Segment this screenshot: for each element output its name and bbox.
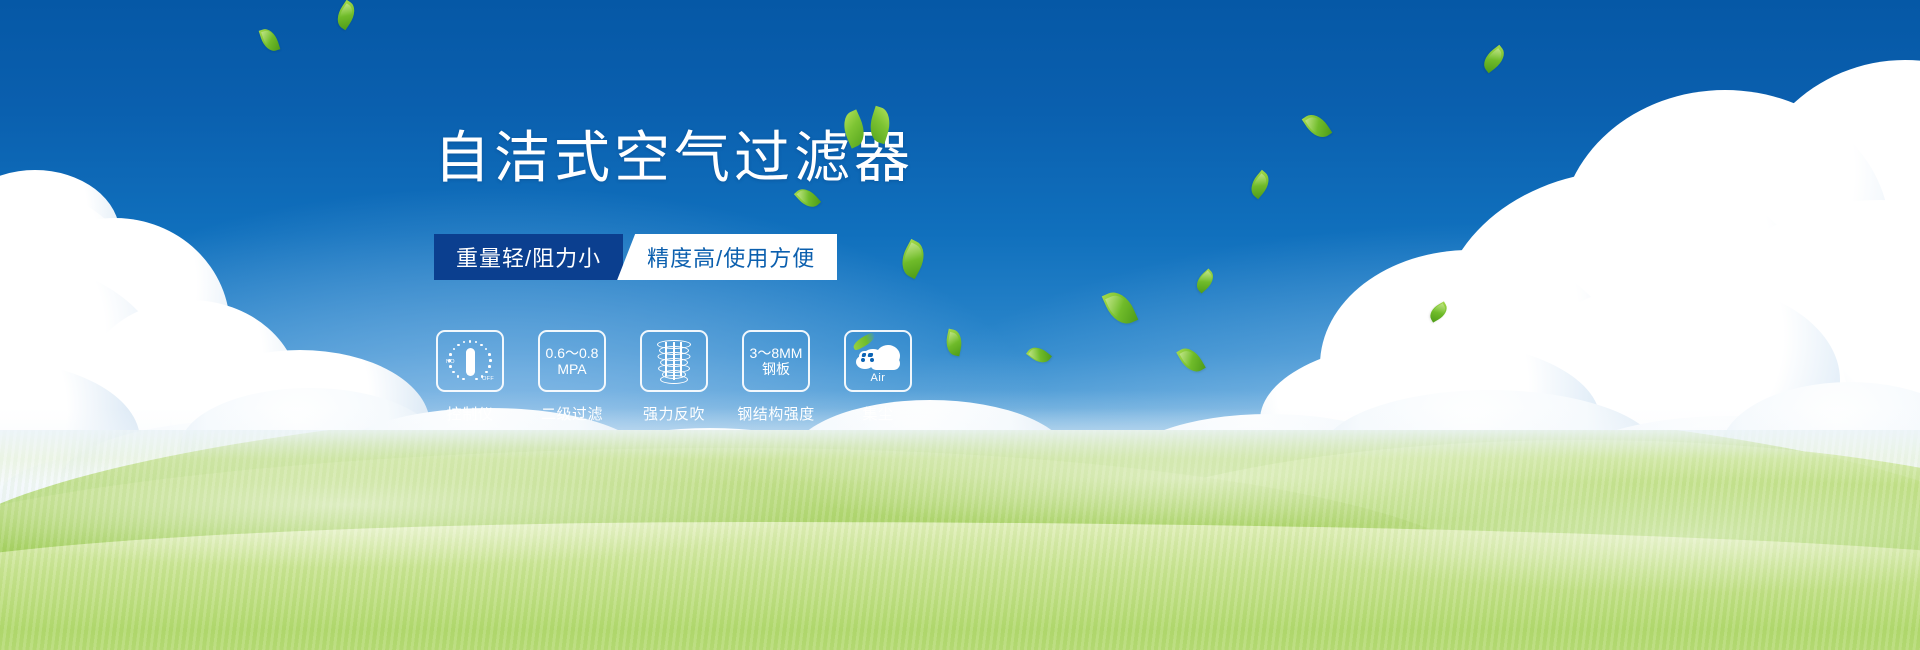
filter-cone-icon [653,339,695,383]
sprout-leaf-icon [838,104,898,148]
feature-value-line2: 钢板 [762,361,790,377]
subtitle-primary: 重量轻/阻力小 [434,234,623,280]
feature-label: 钢结构强度 [737,403,815,424]
feature-label: 控制仪 [447,403,494,424]
feature-list: NO OFF 控制仪 0.6～0.8 MPA 二级过滤 [434,330,914,424]
feature-label: 强力反吹 [643,403,705,424]
feature-icon-box: 3～8MM 钢板 [742,330,810,392]
subtitle-bar: 重量轻/阻力小 精度高/使用方便 [434,234,837,280]
feature-item-steel[interactable]: 3～8MM 钢板 钢结构强度 [740,330,812,424]
feature-icon-box: NO OFF [436,330,504,392]
air-label: Air [852,372,904,385]
gauge-off-label: OFF [482,376,494,382]
feature-label: 二级过滤 [541,403,603,424]
hero-banner: 自洁式空气过滤器 重量轻/阻力小 精度高/使用方便 [0,0,1920,650]
feature-item-backblow[interactable]: 强力反吹 [638,330,710,424]
feature-label: 集尘 [862,403,893,424]
feature-item-dust[interactable]: Air 集尘 [842,330,914,424]
feature-value-line1: 0.6～0.8 [546,345,599,361]
feature-value-line2: MPA [557,361,586,377]
subtitle-secondary: 精度高/使用方便 [617,234,837,280]
feature-value-line1: 3～8MM [750,345,803,361]
feature-icon-box [640,330,708,392]
feature-icon-box: Air [844,330,912,392]
air-cloud-icon: Air [852,339,904,383]
gauge-icon: NO OFF [447,339,493,383]
banner-content: 自洁式空气过滤器 重量轻/阻力小 精度高/使用方便 [0,0,1920,650]
gauge-on-label: NO [446,359,455,365]
feature-item-controller[interactable]: NO OFF 控制仪 [434,330,506,424]
feature-icon-box: 0.6～0.8 MPA [538,330,606,392]
feature-item-filtration[interactable]: 0.6～0.8 MPA 二级过滤 [536,330,608,424]
